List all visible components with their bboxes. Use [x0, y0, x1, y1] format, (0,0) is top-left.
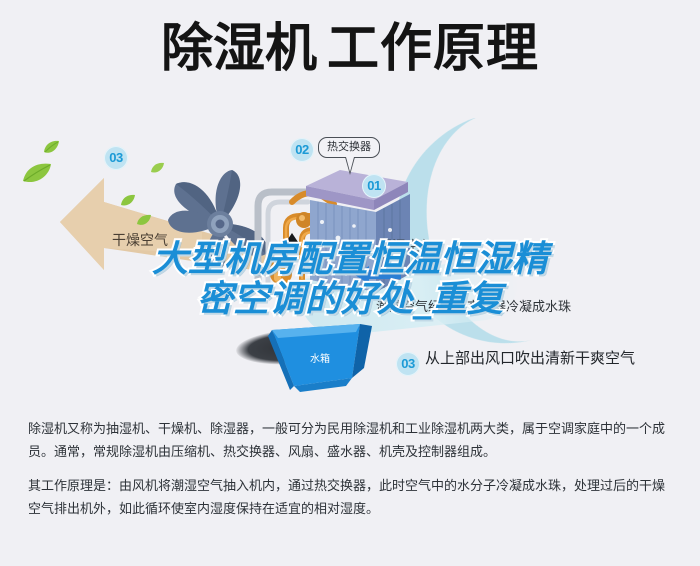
article-body: 除湿机又称为抽湿机、干燥机、除湿器，一般可分为民用除湿机和工业除湿机两大类，属于…	[28, 418, 676, 521]
note-outlet-row: 03从上部出风口吹出清新干爽空气	[396, 347, 635, 376]
badge-02-heat-exchanger: 02	[290, 138, 314, 162]
air-intake-arrow	[355, 266, 401, 284]
label-water-tank: 水箱	[310, 350, 330, 365]
note-outlet-text: 从上部出风口吹出清新干爽空气	[425, 349, 635, 367]
leaf-icon-3	[120, 194, 136, 208]
badge-03-dry-air: 03	[104, 146, 128, 170]
label-humid-air: 潮湿空气	[378, 236, 434, 256]
label-condensation-note: 潮湿空气经过热交换器冷凝成水珠	[376, 296, 571, 315]
leaf-icon-5	[136, 214, 152, 227]
title-part-2: 工作原理	[327, 19, 539, 79]
title-part-1: 除湿机	[161, 19, 317, 79]
heat-exchanger-callout: 热交换器	[318, 137, 380, 158]
poster-root: 除湿机工作原理	[0, 0, 700, 566]
leaf-icon-2	[22, 162, 52, 184]
body-paragraph-2: 其工作原理是：由风机将潮湿空气抽入机内，通过热交换器，此时空气中的水分子冷凝成水…	[28, 475, 676, 521]
body-paragraph-1: 除湿机又称为抽湿机、干燥机、除湿器，一般可分为民用除湿机和工业除湿机两大类，属于…	[28, 418, 676, 464]
badge-03-outlet: 03	[396, 352, 420, 376]
label-dry-air: 干燥空气	[112, 230, 168, 250]
dehumidifier-diagram: 03 02 01 热交换器 干燥空气 潮湿空气 水箱 潮湿空气经过热交换器冷凝成…	[0, 118, 700, 410]
badge-01-humid-air: 01	[362, 174, 386, 198]
page-title: 除湿机工作原理	[0, 18, 700, 80]
leaf-icon-1	[42, 140, 60, 156]
